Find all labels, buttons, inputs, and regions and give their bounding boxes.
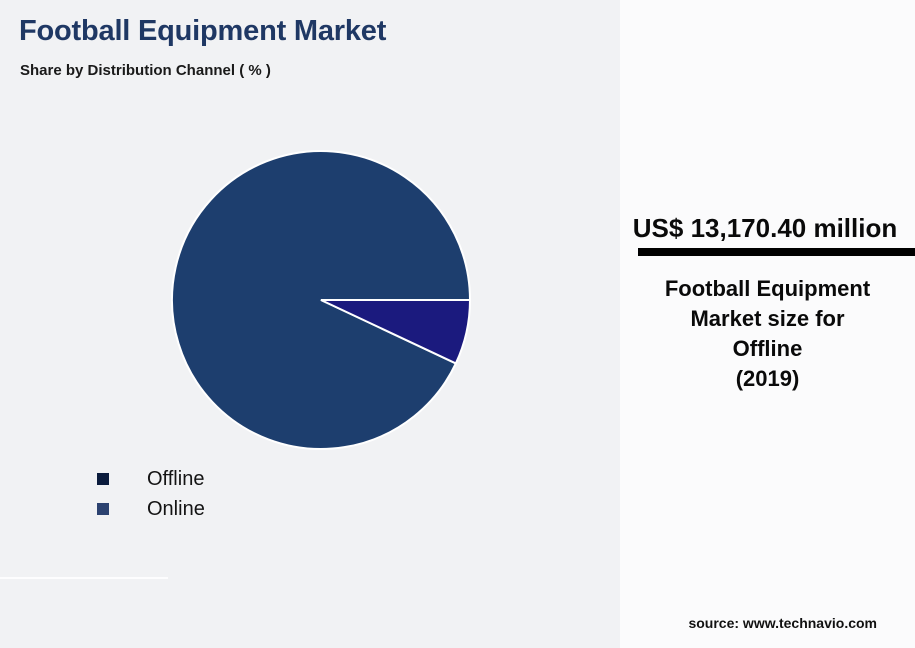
pie-chart	[171, 150, 471, 450]
callout-panel: US$ 13,170.40 million Football Equipment…	[620, 0, 915, 648]
legend-label-offline: Offline	[147, 468, 204, 491]
callout-value: US$ 13,170.40 million	[620, 213, 910, 244]
callout-description-line: Market size for	[634, 304, 901, 334]
bottom-divider	[0, 577, 168, 579]
legend-swatch-online	[97, 503, 109, 515]
legend-item-online[interactable]: Online	[97, 494, 205, 524]
callout-description-line: Offline	[634, 334, 901, 364]
chart-legend: Offline Online	[97, 464, 205, 524]
callout-divider	[638, 248, 915, 256]
legend-swatch-offline	[97, 473, 109, 485]
page-title: Football Equipment Market	[19, 15, 386, 48]
legend-label-online: Online	[147, 498, 205, 521]
callout-description-line: Football Equipment	[634, 274, 901, 304]
chart-page: Football Equipment Market Share by Distr…	[0, 0, 915, 648]
chart-panel: Football Equipment Market Share by Distr…	[0, 0, 620, 648]
pie-chart-svg	[171, 150, 471, 450]
callout-description: Football Equipment Market size for Offli…	[634, 274, 901, 394]
legend-item-offline[interactable]: Offline	[97, 464, 205, 494]
source-attribution: source: www.technavio.com	[620, 615, 877, 631]
callout-description-line: (2019)	[634, 364, 901, 394]
chart-subtitle: Share by Distribution Channel ( % )	[20, 62, 271, 79]
